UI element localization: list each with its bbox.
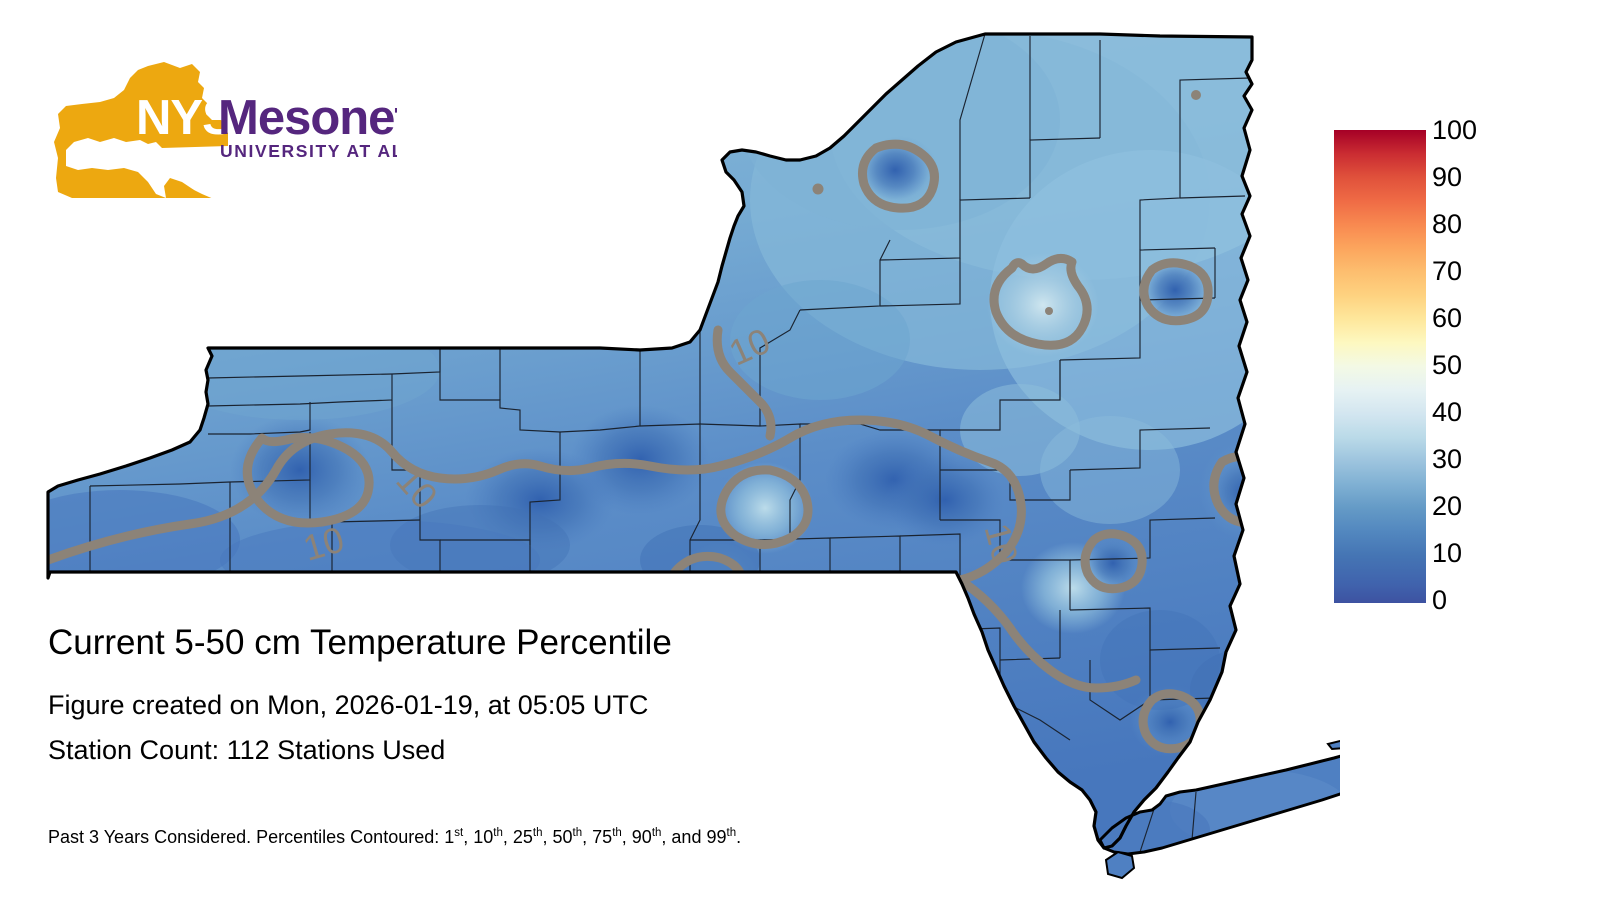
colorbar-tick-50: 50 <box>1432 352 1542 379</box>
staten-island <box>1106 852 1134 878</box>
colorbar-tick-20: 20 <box>1432 493 1542 520</box>
nys-mesonet-logo: NYS Mesonet UNIVERSITY AT ALBANY <box>52 58 397 198</box>
colorbar-tick-90: 90 <box>1432 164 1542 191</box>
colorbar-tick-80: 80 <box>1432 211 1542 238</box>
figure-title: Current 5-50 cm Temperature Percentile <box>48 620 1048 665</box>
logo-tagline: UNIVERSITY AT ALBANY <box>220 141 397 161</box>
colorbar-tick-60: 60 <box>1432 305 1542 332</box>
colorbar-tick-10: 10 <box>1432 540 1542 567</box>
colorbar-tick-labels: 100 90 80 70 60 50 40 30 20 10 0 <box>1432 130 1542 603</box>
colorbar-tick-30: 30 <box>1432 446 1542 473</box>
station-count: Station Count: 112 Stations Used <box>48 728 1048 773</box>
footnote-prefix: Past 3 Years Considered. Percentiles Con… <box>48 827 444 847</box>
fishers-island <box>1328 738 1340 749</box>
colorbar-tick-40: 40 <box>1432 399 1542 426</box>
colorbar-tick-70: 70 <box>1432 258 1542 285</box>
caption-block: Current 5-50 cm Temperature Percentile F… <box>48 620 1048 773</box>
colorbar <box>1334 130 1426 603</box>
footnote-ordinals: 1st, 10th, 25th, 50th, 75th, 90th, and 9… <box>444 827 741 847</box>
logo-word-mesonet: Mesonet <box>218 91 397 145</box>
colorbar-gradient <box>1334 130 1426 603</box>
figure-root: 10 10 10 10 <box>0 0 1600 900</box>
colorbar-tick-0: 0 <box>1432 587 1542 614</box>
figure-footnote: Past 3 Years Considered. Percentiles Con… <box>48 826 741 848</box>
figure-created-timestamp: Figure created on Mon, 2026-01-19, at 05… <box>48 683 1048 728</box>
colorbar-tick-100: 100 <box>1432 117 1542 144</box>
